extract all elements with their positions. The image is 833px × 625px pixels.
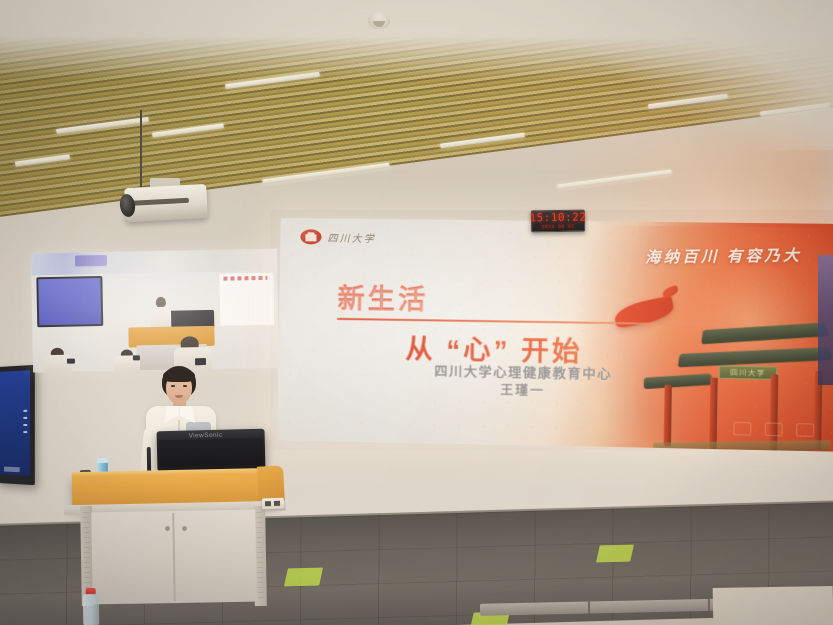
podium-handle-left[interactable] (165, 526, 170, 531)
water-bottle-body (83, 594, 100, 625)
wall-display-logo (4, 467, 20, 473)
presenter-mouth (175, 395, 183, 398)
ceiling-projector (124, 184, 208, 222)
smoke-detector-icon (368, 12, 390, 29)
gateway-pillar-2 (709, 378, 717, 450)
wall-display (0, 365, 35, 485)
floor-marker-1 (284, 568, 323, 587)
lower-right-wall (713, 586, 833, 625)
slide-motto: 海纳百川 有容乃大 (645, 244, 802, 268)
digital-wall-clock: 15:10:22 2024 09 05 (531, 210, 585, 233)
presenter-eye-right (183, 385, 187, 387)
lecture-hall-photo: 四川大学 海纳百川 有容乃大 四川大学 新生活 从 “心” 开始 四川大学心理健… (0, 0, 833, 625)
presenter-eye-left (171, 385, 175, 387)
presenter-fringe (163, 369, 195, 382)
gateway-plaque: 四川大学 (719, 366, 778, 380)
slide-subtitle-block: 四川大学心理健康教育中心 王瑾一 (370, 362, 677, 402)
gateway-pillar-3 (770, 375, 779, 451)
secondary-projection-feed (31, 249, 279, 373)
main-projection-screen: 四川大学 海纳百川 有容乃大 四川大学 新生活 从 “心” 开始 四川大学心理健… (277, 218, 833, 452)
clock-time-display: 15:10:22 (529, 212, 586, 224)
clock-date-display: 2024 09 05 (542, 225, 575, 230)
floor-marker-2 (596, 545, 634, 563)
wall-display-indicator-dots (23, 410, 27, 434)
podium-monitor[interactable]: ViewSonic (157, 429, 266, 472)
scu-emblem-icon (300, 229, 321, 244)
podium-handle-right[interactable] (182, 526, 187, 531)
slide-title-line1: 新生活 (337, 277, 674, 321)
scu-wordmark: 四川大学 (327, 230, 376, 246)
projector-mount-rod (140, 110, 142, 188)
monitor-brand-label: ViewSonic (189, 431, 223, 439)
slide-title-block: 新生活 从 “心” 开始 (337, 277, 675, 371)
ceiling-mask-right (533, 0, 833, 150)
player-control-1-icon[interactable] (733, 422, 751, 436)
feed-glow (31, 249, 279, 373)
player-control-2-icon[interactable] (765, 423, 783, 437)
slide-player-controls[interactable] (733, 422, 814, 437)
gateway-roof-mid (678, 347, 833, 367)
slide-university-logo: 四川大学 (300, 229, 376, 245)
right-side-panel (818, 255, 833, 385)
water-bottle (83, 588, 100, 625)
wall-power-socket[interactable] (262, 498, 284, 510)
player-control-3-icon[interactable] (796, 423, 814, 437)
